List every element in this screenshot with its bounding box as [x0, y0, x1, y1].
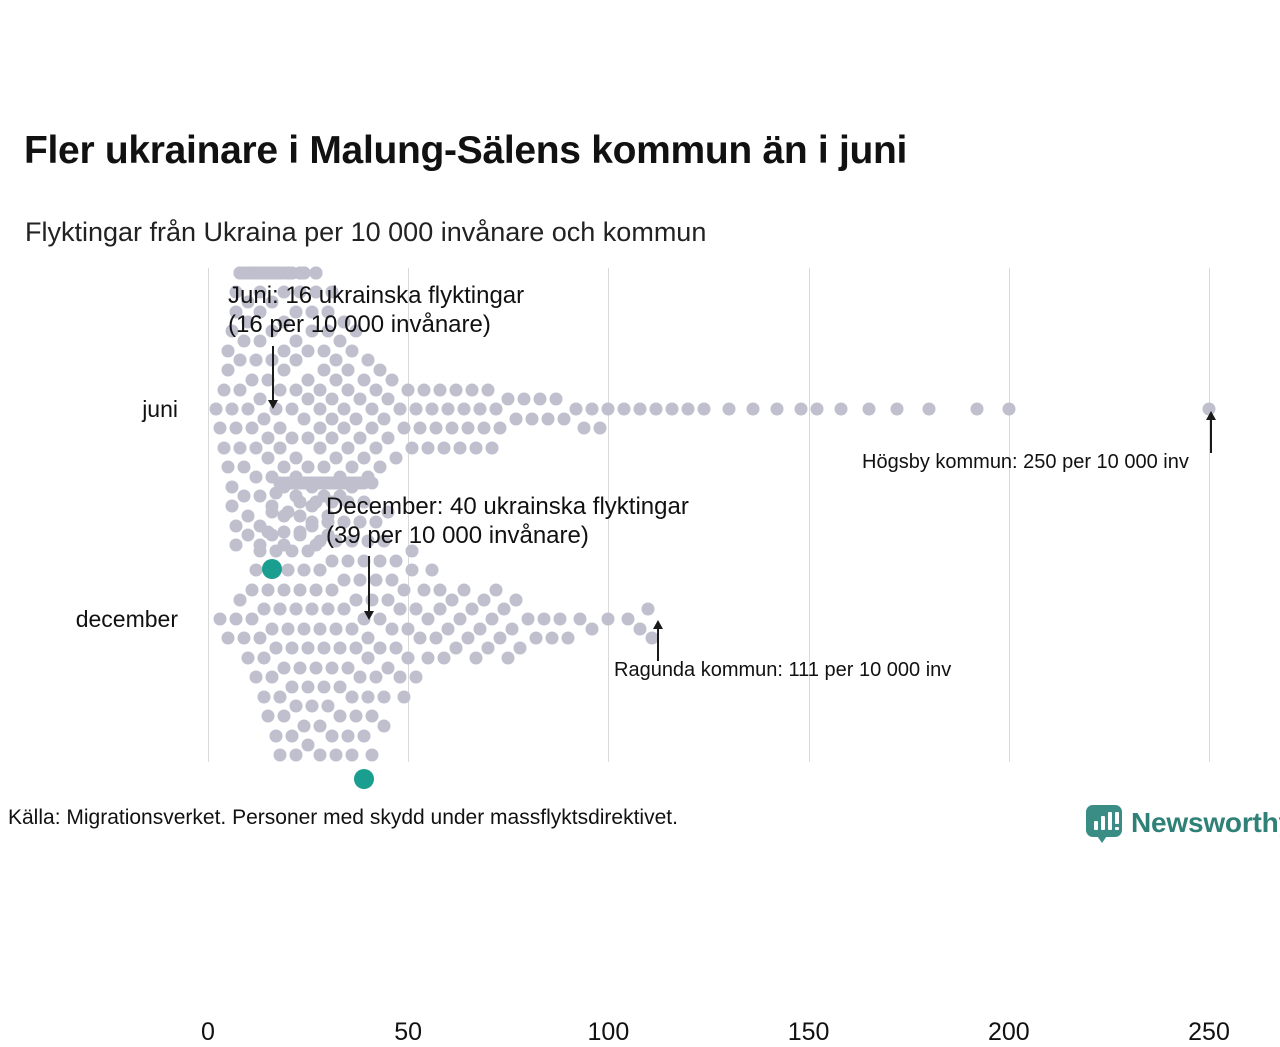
- swarm-dot: [266, 622, 279, 635]
- swarm-dot: [510, 593, 523, 606]
- swarm-dot: [298, 719, 311, 732]
- swarm-dot: [398, 583, 411, 596]
- swarm-dot: [522, 613, 535, 626]
- swarm-dot: [306, 700, 319, 713]
- swarm-dot: [346, 622, 359, 635]
- swarm-dot: [394, 603, 407, 616]
- swarm-dot: [310, 496, 323, 509]
- swarm-dot: [346, 690, 359, 703]
- swarm-dot: [282, 506, 295, 519]
- swarm-dot: [262, 583, 275, 596]
- swarm-dot: [402, 651, 415, 664]
- swarm-dot: [546, 632, 559, 645]
- swarm-dot: [286, 681, 299, 694]
- swarm-dot: [326, 554, 339, 567]
- highlight-dot: [354, 769, 374, 789]
- newsworthy-wordmark: Newsworthy: [1131, 807, 1280, 839]
- swarm-dot: [286, 642, 299, 655]
- swarm-dot: [266, 506, 279, 519]
- swarm-dot: [334, 710, 347, 723]
- swarm-dot: [362, 690, 375, 703]
- swarm-dot: [362, 632, 375, 645]
- swarm-dot: [446, 593, 459, 606]
- swarm-dot: [514, 642, 527, 655]
- swarm-dot: [354, 671, 367, 684]
- swarm-dot: [262, 710, 275, 723]
- swarm-dot: [222, 632, 235, 645]
- swarm-dot: [490, 583, 503, 596]
- swarm-dot: [422, 651, 435, 664]
- swarm-dot: [326, 661, 339, 674]
- swarm-dot: [282, 564, 295, 577]
- swarm-dot: [346, 749, 359, 762]
- swarm-dot: [414, 632, 427, 645]
- swarm-dot: [378, 690, 391, 703]
- swarm-dot: [342, 661, 355, 674]
- swarm-dot: [306, 515, 319, 528]
- x-tick-label: 150: [788, 1018, 830, 1047]
- swarm-dot: [250, 671, 263, 684]
- swarm-dot: [274, 749, 287, 762]
- swarm-dot: [238, 632, 251, 645]
- swarm-dot: [434, 603, 447, 616]
- swarm-dot: [298, 564, 311, 577]
- swarm-dot: [342, 729, 355, 742]
- swarm-dot: [290, 749, 303, 762]
- swarm-dot: [262, 525, 275, 538]
- swarm-dot: [294, 661, 307, 674]
- x-tick-label: 50: [394, 1018, 422, 1047]
- newsworthy-bar-chart-icon: [1086, 805, 1122, 841]
- swarm-dot: [482, 642, 495, 655]
- swarm-dot: [494, 632, 507, 645]
- highlight-dot: [262, 559, 282, 579]
- swarm-dot: [506, 622, 519, 635]
- swarm-dot: [602, 613, 615, 626]
- swarm-dot: [290, 603, 303, 616]
- swarm-dot: [634, 622, 647, 635]
- swarm-dot: [258, 690, 271, 703]
- swarm-dot: [290, 700, 303, 713]
- swarm-dot: [330, 749, 343, 762]
- swarm-dot: [350, 642, 363, 655]
- swarm-dot: [366, 476, 379, 489]
- swarm-dot: [366, 710, 379, 723]
- annotation-december-line2: (39 per 10 000 invånare): [326, 521, 689, 550]
- swarm-dot: [474, 622, 487, 635]
- swarm-dot: [302, 544, 315, 557]
- annotation-ragunda: Ragunda kommun: 111 per 10 000 inv: [614, 658, 951, 682]
- swarm-dot: [314, 535, 327, 548]
- swarm-dot: [230, 613, 243, 626]
- annotation-juni-line2: (16 per 10 000 invånare): [228, 310, 524, 339]
- annotation-juni-line1: Juni: 16 ukrainska flyktingar: [228, 281, 524, 310]
- annotation-december: December: 40 ukrainska flyktingar (39 pe…: [326, 492, 689, 551]
- swarm-dot: [574, 613, 587, 626]
- annotation-hogsby: Högsby kommun: 250 per 10 000 inv: [862, 450, 1189, 474]
- swarm-dot: [294, 525, 307, 538]
- swarm-dot: [314, 719, 327, 732]
- swarm-dot: [406, 564, 419, 577]
- swarm-dot: [386, 574, 399, 587]
- swarm-dot: [326, 729, 339, 742]
- swarm-dot: [354, 574, 367, 587]
- swarm-dot: [642, 603, 655, 616]
- chart-canvas: Fler ukrainare i Malung-Sälens kommun än…: [0, 0, 1280, 960]
- swarm-dot: [430, 632, 443, 645]
- swarm-dot: [254, 544, 267, 557]
- swarm-dot: [302, 642, 315, 655]
- swarm-dot: [306, 603, 319, 616]
- swarm-dot: [562, 632, 575, 645]
- swarm-dot: [294, 583, 307, 596]
- swarm-dot: [470, 651, 483, 664]
- swarm-dot: [270, 544, 283, 557]
- swarm-dot: [426, 564, 439, 577]
- swarm-dot: [286, 729, 299, 742]
- chart-subtitle: Flyktingar från Ukraina per 10 000 invån…: [25, 217, 1255, 248]
- swarm-dot: [410, 603, 423, 616]
- swarm-dot: [402, 622, 415, 635]
- swarm-dot: [302, 681, 315, 694]
- swarm-dot: [266, 671, 279, 684]
- swarm-dot: [622, 613, 635, 626]
- swarm-dot: [374, 642, 387, 655]
- swarm-dot: [370, 671, 383, 684]
- swarm-dot: [310, 583, 323, 596]
- swarm-dot: [286, 544, 299, 557]
- swarm-dot: [274, 603, 287, 616]
- category-label-juni: juni: [0, 396, 178, 423]
- x-tick-label: 250: [1188, 1018, 1230, 1047]
- swarm-dot: [358, 729, 371, 742]
- swarm-dot: [298, 622, 311, 635]
- swarm-dot: [382, 661, 395, 674]
- swarm-dot: [394, 671, 407, 684]
- swarm-dot: [478, 593, 491, 606]
- swarm-dot: [270, 642, 283, 655]
- annotation-juni: Juni: 16 ukrainska flyktingar (16 per 10…: [228, 281, 524, 340]
- swarm-dot: [454, 613, 467, 626]
- swarm-dot: [330, 622, 343, 635]
- swarm-dot: [366, 749, 379, 762]
- swarm-dot: [390, 642, 403, 655]
- x-tick-label: 100: [588, 1018, 630, 1047]
- x-tick-label: 0: [201, 1018, 215, 1047]
- swarm-dot: [254, 632, 267, 645]
- swarm-dot: [326, 583, 339, 596]
- swarm-dot: [278, 525, 291, 538]
- swarm-dot: [258, 603, 271, 616]
- swarm-dot: [250, 564, 263, 577]
- newsworthy-logo: Newsworthy: [1086, 800, 1280, 846]
- swarm-dot: [242, 651, 255, 664]
- swarm-dot: [246, 613, 259, 626]
- swarm-dot: [530, 632, 543, 645]
- swarm-dot: [386, 622, 399, 635]
- swarm-dot: [214, 613, 227, 626]
- x-tick-label: 200: [988, 1018, 1030, 1047]
- swarm-dot: [382, 593, 395, 606]
- swarm-dot: [390, 554, 403, 567]
- swarm-dot: [498, 603, 511, 616]
- swarm-dot: [282, 622, 295, 635]
- source-note: Källa: Migrationsverket. Personer med sk…: [8, 806, 678, 830]
- swarm-dot: [302, 739, 315, 752]
- swarm-dot: [318, 642, 331, 655]
- swarm-dot: [278, 710, 291, 723]
- swarm-dot: [318, 681, 331, 694]
- annotation-december-line1: December: 40 ukrainska flyktingar: [326, 492, 689, 521]
- swarm-dot: [378, 719, 391, 732]
- swarm-dot: [278, 661, 291, 674]
- swarm-dot: [342, 554, 355, 567]
- swarm-dot: [450, 642, 463, 655]
- swarm-dot: [314, 749, 327, 762]
- swarm-dot: [258, 651, 271, 664]
- swarm-dot: [410, 671, 423, 684]
- swarm-dot: [398, 690, 411, 703]
- swarm-dot: [462, 632, 475, 645]
- swarm-dot: [422, 613, 435, 626]
- swarm-dot: [538, 613, 551, 626]
- swarm-dot: [338, 574, 351, 587]
- swarm-dot: [334, 642, 347, 655]
- swarm-dot: [350, 710, 363, 723]
- swarm-dot: [442, 622, 455, 635]
- swarm-dot: [314, 622, 327, 635]
- plot-area: 050100150200250 juni december Juni: 16 u…: [0, 268, 1280, 788]
- swarm-dot: [278, 583, 291, 596]
- swarm-dot: [234, 593, 247, 606]
- swarm-dot: [434, 583, 447, 596]
- swarm-dot: [486, 613, 499, 626]
- swarm-dot: [310, 661, 323, 674]
- swarm-dot: [338, 603, 351, 616]
- swarm-dot: [314, 564, 327, 577]
- swarm-dot: [418, 583, 431, 596]
- swarm-dot: [374, 613, 387, 626]
- swarm-dot: [294, 496, 307, 509]
- swarm-dot: [502, 651, 515, 664]
- swarm-dot: [322, 700, 335, 713]
- swarm-dot: [362, 651, 375, 664]
- category-label-december: december: [0, 606, 178, 633]
- swarm-dot: [438, 651, 451, 664]
- swarm-dot: [458, 583, 471, 596]
- chart-title: Fler ukrainare i Malung-Sälens kommun än…: [24, 130, 1254, 173]
- swarm-dot: [586, 622, 599, 635]
- swarm-dot: [466, 603, 479, 616]
- swarm-dot: [554, 613, 567, 626]
- swarm-dot: [322, 603, 335, 616]
- swarm-dot: [370, 574, 383, 587]
- swarm-dot: [274, 690, 287, 703]
- swarm-dot: [270, 729, 283, 742]
- swarm-dot: [334, 681, 347, 694]
- swarm-dot: [374, 554, 387, 567]
- swarm-dot: [350, 593, 363, 606]
- swarm-dot: [246, 583, 259, 596]
